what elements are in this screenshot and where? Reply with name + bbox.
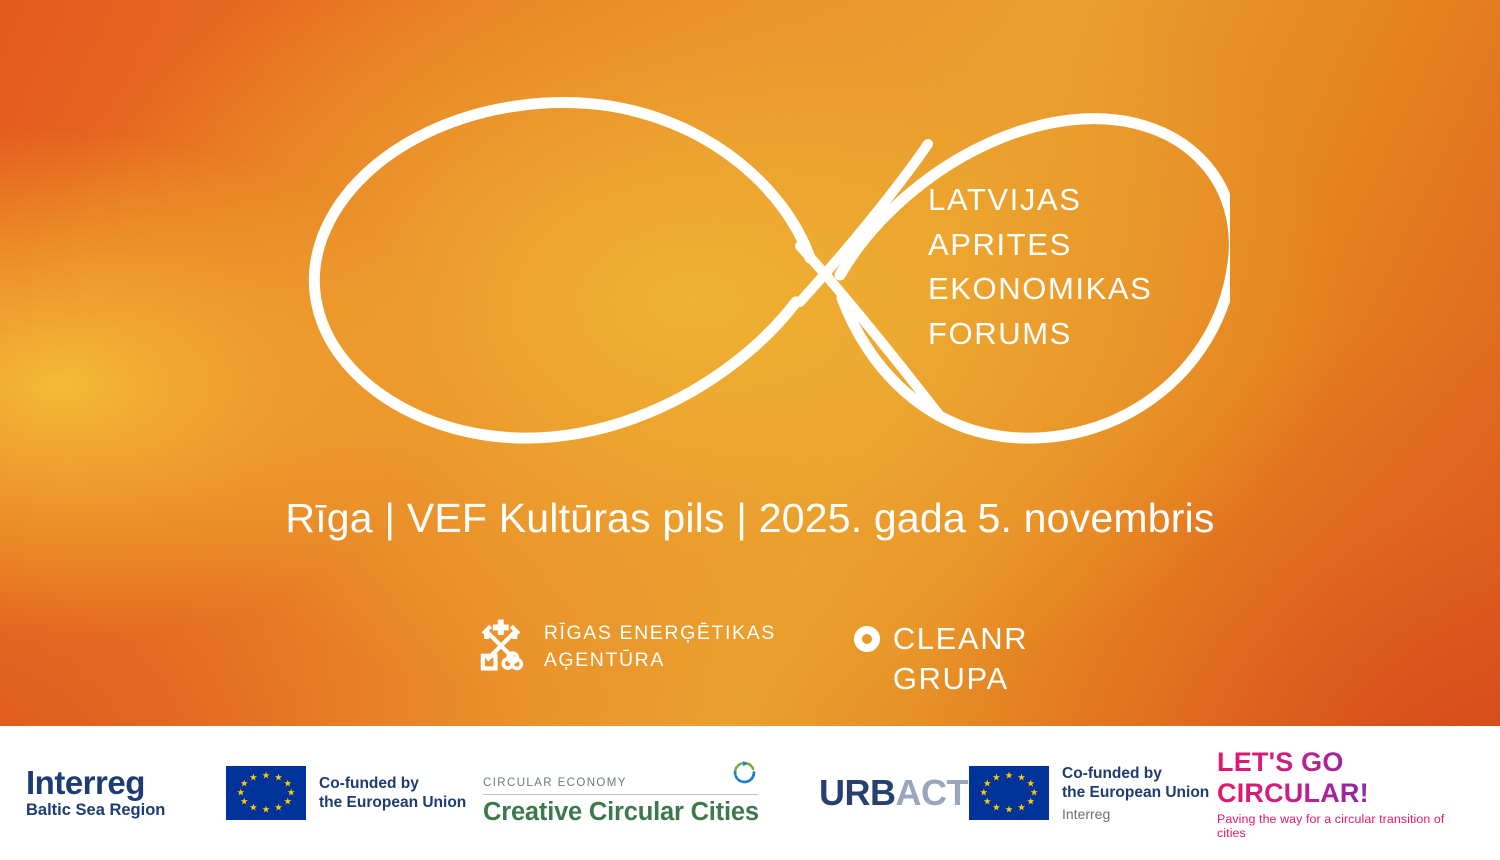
lgc-tagline: Paving the way for a circular transition… [1217,812,1474,840]
ccc-divider [483,794,758,795]
eu2-programme: Interreg [1062,805,1209,823]
circular-arrows-icon [731,759,758,791]
riga-energy-agency-label: RĪGAS ENERĢĒTIKAS AĢENTŪRA [544,620,776,674]
cleanr-label: CLEANR GRUPA [893,619,1028,699]
interreg-word: Interreg [26,766,165,800]
title-line-4: FORUMS [928,312,1248,357]
ccc-name: Creative Circular Cities [483,798,759,827]
title-line-3: EKONOMIKAS [928,267,1248,312]
page-title: LATVIJAS APRITES EKONOMIKAS FORUMS [928,178,1248,356]
eu-flag-icon-2: ★ ★ ★ ★ ★ ★ ★ ★ ★ ★ ★ ★ [969,766,1049,820]
orange-partner-logos: RĪGAS ENERĢĒTIKAS AĢENTŪRA CLEANR GRUPA [0,615,1500,710]
logo-eu-cofunded-interreg: ★ ★ ★ ★ ★ ★ ★ ★ ★ ★ ★ ★ Co-funded by [969,764,1217,823]
eu1-line-1: Co-funded by [319,774,466,794]
eu-cofunded-text-1: Co-funded by the European Union [319,774,466,813]
poster: LATVIJAS APRITES EKONOMIKAS FORUMS Rīga … [0,0,1500,860]
eu1-line-2: the European Union [319,793,466,813]
cleanr-line-1: CLEANR [893,619,1028,659]
cleanr-line-2: GRUPA [893,659,1028,699]
interreg-sub: Baltic Sea Region [26,800,165,820]
logo-riga-energy-agency: RĪGAS ENERĢĒTIKAS AĢENTŪRA [472,615,776,678]
logo-urbact: URBACT [819,772,969,814]
eu-flag-icon: ★ ★ ★ ★ ★ ★ ★ ★ ★ ★ ★ ★ [226,766,306,820]
eu2-line-1: Co-funded by [1062,764,1209,784]
title-line-1: LATVIJAS [928,178,1248,223]
logo-lets-go-circular: LET'S GO CIRCULAR! Paving the way for a … [1217,747,1474,840]
rea-line-2: AĢENTŪRA [544,647,776,674]
rea-line-1: RĪGAS ENERĢĒTIKAS [544,620,776,647]
ccc-kicker: CIRCULAR ECONOMY [483,777,627,789]
funder-logo-bar: Interreg Baltic Sea Region ★ ★ ★ ★ ★ ★ ★… [0,726,1500,860]
title-line-2: APRITES [928,223,1248,268]
crossed-keys-icon [472,615,530,678]
eu2-line-2: the European Union [1062,783,1209,803]
logo-cleanr-grupa: CLEANR GRUPA [854,615,1028,699]
hero-background: LATVIJAS APRITES EKONOMIKAS FORUMS Rīga … [0,0,1500,726]
logo-interreg-baltic-sea-region: Interreg Baltic Sea Region [26,766,194,820]
event-subtitle: Rīga | VEF Kultūras pils | 2025. gada 5.… [0,495,1500,542]
urbact-part-2: ACT [896,772,969,813]
ring-icon [854,626,880,652]
lgc-title: LET'S GO CIRCULAR! [1217,747,1474,809]
urbact-part-1: URB [819,772,896,813]
logo-eu-cofunded-1: ★ ★ ★ ★ ★ ★ ★ ★ ★ ★ ★ ★ Co-funded by [226,766,469,820]
logo-creative-circular-cities: CIRCULAR ECONOMY Creative C [483,759,775,827]
eu-cofunded-text-2: Co-funded by the European Union Interreg [1062,764,1209,823]
